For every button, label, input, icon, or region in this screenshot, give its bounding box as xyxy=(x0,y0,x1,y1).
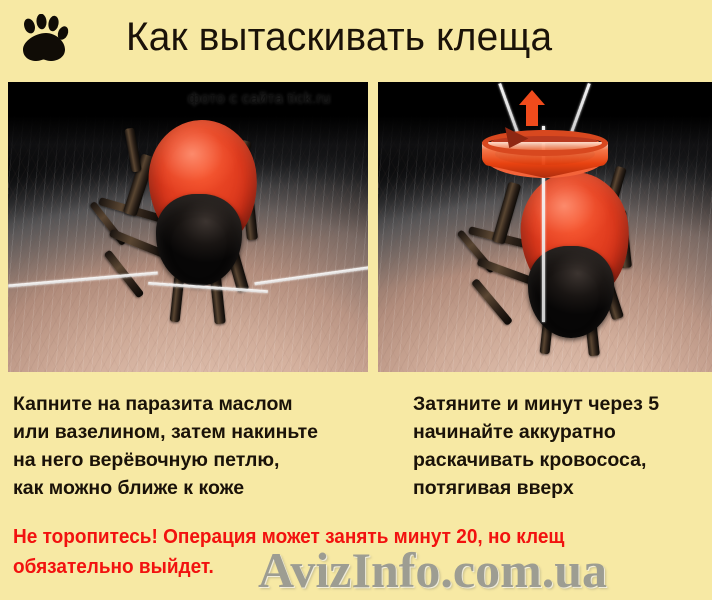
photo-step-2 xyxy=(378,82,712,372)
tick-head xyxy=(156,194,242,286)
poster-root: Как вытаскивать клеща xyxy=(0,0,712,600)
up-arrow-icon xyxy=(519,90,545,126)
photo-strip: фото с сайта tick.ru xyxy=(0,82,712,372)
photo-step-1: фото с сайта tick.ru xyxy=(8,82,368,372)
tick-illustration-2 xyxy=(498,172,648,372)
photo-step-1-content: фото с сайта tick.ru xyxy=(8,82,368,372)
caption-row: Капните на паразита маслом или вазелином… xyxy=(0,376,712,516)
tick-head xyxy=(528,246,614,338)
photo-step-2-content xyxy=(378,82,712,372)
rotation-ring-overlay xyxy=(482,130,608,178)
site-watermark: AvizInfo.com.ua xyxy=(258,544,607,596)
page-title: Как вытаскивать клеща xyxy=(126,11,552,63)
photo-source-watermark: фото с сайта tick.ru xyxy=(188,90,331,107)
caption-step-1: Капните на паразита маслом или вазелином… xyxy=(13,390,385,502)
paw-print-icon xyxy=(16,14,72,66)
caption-step-2: Затяните и минут через 5 начинайте аккур… xyxy=(413,390,705,502)
poster-header: Как вытаскивать клеща xyxy=(0,0,712,82)
